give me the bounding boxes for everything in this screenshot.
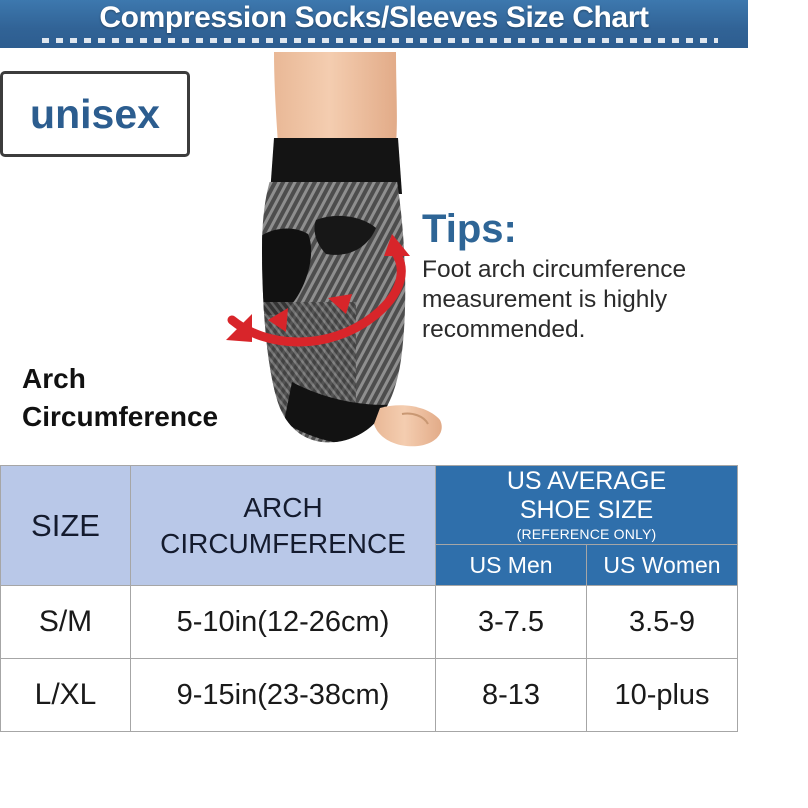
- header-us-average-shoe-size: US AVERAGE SHOE SIZE (REFERENCE ONLY): [436, 466, 738, 545]
- cell-arch: 9-15in(23-38cm): [131, 659, 436, 732]
- cell-arch: 5-10in(12-26cm): [131, 586, 436, 659]
- cell-us-women: 3.5-9: [587, 586, 738, 659]
- cell-us-men: 8-13: [436, 659, 587, 732]
- cell-us-women: 10-plus: [587, 659, 738, 732]
- table-header-row-primary: SIZE ARCH CIRCUMFERENCE US AVERAGE SHOE …: [1, 466, 738, 545]
- cell-size: L/XL: [1, 659, 131, 732]
- tips-heading: Tips:: [422, 207, 762, 251]
- unisex-label: unisex: [30, 92, 160, 136]
- arch-circumference-caption: Arch Circumference: [22, 360, 282, 436]
- title-banner: Compression Socks/Sleeves Size Chart: [0, 0, 748, 48]
- size-chart-table: SIZE ARCH CIRCUMFERENCE US AVERAGE SHOE …: [0, 465, 738, 732]
- unisex-badge: unisex: [0, 71, 190, 157]
- header-size: SIZE: [1, 466, 131, 586]
- dotted-divider: [42, 38, 718, 43]
- cell-us-men: 3-7.5: [436, 586, 587, 659]
- header-size-label: SIZE: [31, 508, 100, 543]
- header-arch-circumference: ARCH CIRCUMFERENCE: [131, 466, 436, 586]
- cell-size: S/M: [1, 586, 131, 659]
- table-body: S/M 5-10in(12-26cm) 3-7.5 3.5-9 L/XL 9-1…: [1, 586, 738, 732]
- page-title: Compression Socks/Sleeves Size Chart: [0, 1, 748, 35]
- table-row: L/XL 9-15in(23-38cm) 8-13 10-plus: [1, 659, 738, 732]
- tips-body-text: Foot arch circumference measurement is h…: [422, 255, 762, 345]
- header-us-women: US Women: [587, 545, 738, 586]
- header-arch-line-2: CIRCUMFERENCE: [131, 526, 435, 562]
- header-arch-line-1: ARCH: [131, 490, 435, 526]
- header-shoe-note: (REFERENCE ONLY): [436, 525, 737, 544]
- leg-skin: [274, 52, 397, 144]
- tips-block: Tips: Foot arch circumference measuremen…: [422, 207, 762, 345]
- toes-skin: [374, 405, 442, 446]
- table-row: S/M 5-10in(12-26cm) 3-7.5 3.5-9: [1, 586, 738, 659]
- arch-caption-line-1: Arch: [22, 360, 282, 398]
- header-us-men: US Men: [436, 545, 587, 586]
- size-chart-page: Compression Socks/Sleeves Size Chart uni…: [0, 0, 808, 808]
- arch-caption-line-2: Circumference: [22, 398, 282, 436]
- header-shoe-line-2: SHOE SIZE: [436, 496, 737, 525]
- header-shoe-line-1: US AVERAGE: [436, 467, 737, 496]
